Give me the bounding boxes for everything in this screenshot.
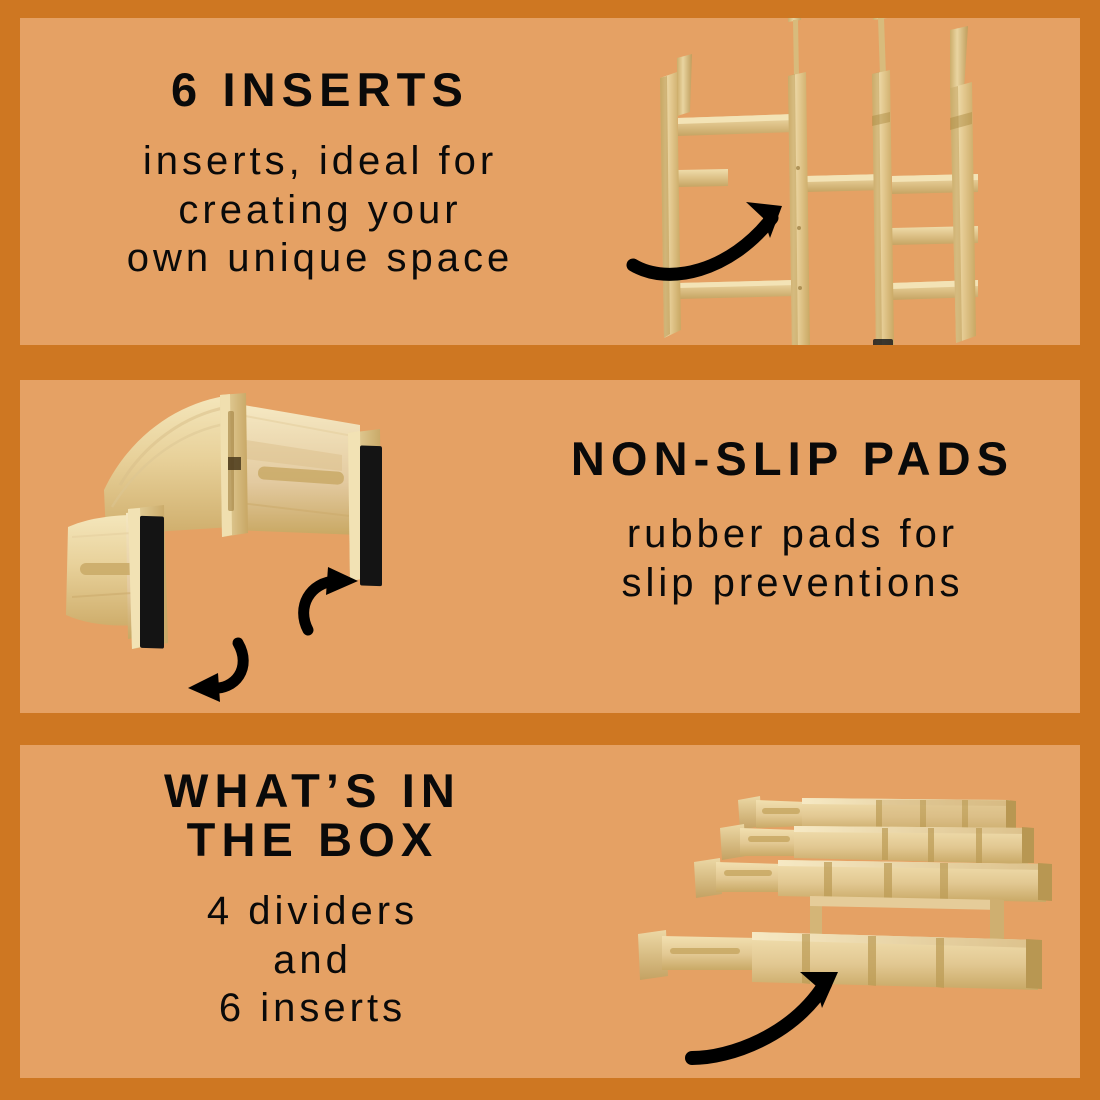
rubber-pad bbox=[140, 516, 164, 649]
divider-bar bbox=[738, 796, 1016, 832]
divider-bar bbox=[694, 858, 1052, 902]
product-feature-infographic: 6 INSERTS inserts, ideal for creating yo… bbox=[0, 0, 1100, 1100]
panel-whats-in-the-box-title: WHAT’S IN THE BOX bbox=[35, 767, 590, 865]
panel-non-slip-pads: NON-SLIP PADS rubber pads for slip preve… bbox=[20, 380, 1080, 713]
divider-bar bbox=[638, 930, 1042, 990]
panel-non-slip-pads-title: NON-SLIP PADS bbox=[510, 435, 1075, 484]
panel-whats-in-the-box-text: WHAT’S IN THE BOX 4 dividers and 6 inser… bbox=[35, 767, 590, 1033]
panel-inserts-title: 6 INSERTS bbox=[55, 66, 585, 115]
bamboo-drawer-inserts-grid-image bbox=[620, 18, 1080, 345]
four-bamboo-dividers-image bbox=[610, 770, 1080, 1070]
bamboo-divider-rubber-pads-image bbox=[60, 385, 480, 705]
panel-whats-in-the-box: WHAT’S IN THE BOX 4 dividers and 6 inser… bbox=[20, 745, 1080, 1078]
curved-arrow-hook-left bbox=[188, 643, 243, 702]
panel-inserts-subtitle: inserts, ideal for creating your own uni… bbox=[55, 137, 585, 283]
panel-inserts: 6 INSERTS inserts, ideal for creating yo… bbox=[20, 18, 1080, 345]
curved-arrow-up-right bbox=[633, 202, 782, 274]
panel-inserts-text: 6 INSERTS inserts, ideal for creating yo… bbox=[55, 66, 585, 283]
curved-arrow-up-right bbox=[692, 972, 838, 1058]
divider-bar bbox=[720, 824, 1034, 864]
rubber-pad bbox=[360, 445, 382, 586]
curved-arrow-hook-right bbox=[304, 567, 358, 630]
panel-whats-in-the-box-subtitle: 4 dividers and 6 inserts bbox=[35, 887, 590, 1033]
panel-non-slip-pads-subtitle: rubber pads for slip preventions bbox=[510, 510, 1075, 608]
panel-non-slip-pads-text: NON-SLIP PADS rubber pads for slip preve… bbox=[510, 435, 1075, 607]
